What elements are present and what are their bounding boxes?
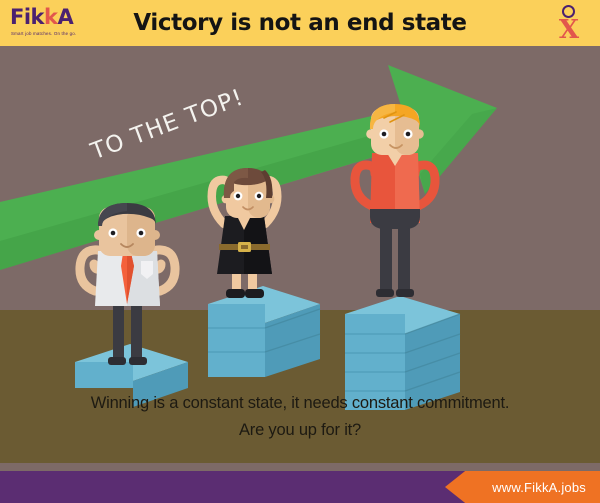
- character-blond-man: [355, 104, 435, 297]
- caption-line-1: Winning is a constant state, it needs co…: [0, 390, 600, 417]
- podium-medium: [208, 286, 320, 377]
- caption-block: Winning is a constant state, it needs co…: [0, 390, 600, 444]
- footer-bar: www.FikkA.jobs: [0, 471, 600, 503]
- character-businessman: [80, 203, 175, 365]
- character-businesswoman: [212, 168, 278, 298]
- page-title: Victory is not an end state: [0, 0, 600, 46]
- header-bar: FikkA Smart job matches. On the go. Vict…: [0, 0, 600, 46]
- poster: FikkA Smart job matches. On the go. Vict…: [0, 0, 600, 503]
- x-body-icon: X: [554, 18, 584, 42]
- fikka-person-mark[interactable]: X: [554, 4, 588, 42]
- website-url[interactable]: www.FikkA.jobs: [492, 471, 586, 503]
- caption-line-2: Are you up for it?: [0, 417, 600, 444]
